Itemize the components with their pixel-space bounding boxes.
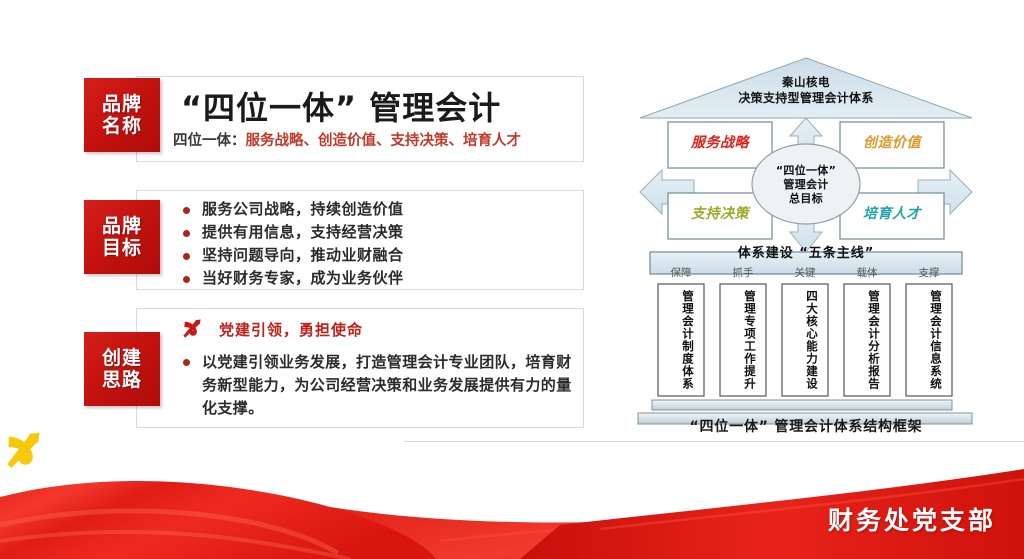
label-tag-brand-name: 品牌 名称 [84, 78, 160, 152]
brand-title: “四位一体” 管理会计 [181, 83, 501, 129]
footer-org-label: 财务处党支部 [828, 501, 996, 537]
framework-diagram: 秦山核电 决策支持型管理会计体系 服务战略 创造价值 支持决策 培育人才 “四位… [636, 56, 976, 446]
pillar-text-4: 管理会计分析报告 [854, 290, 880, 390]
label-tag-line-2: 目标 [102, 237, 142, 259]
list-item-label: 服务公司战略，持续创造价值 [202, 199, 404, 220]
label-tag-brand-goal: 品牌 目标 [84, 200, 160, 274]
label-tag-creation-approach: 创建 思路 [84, 332, 160, 406]
bullet-dot [183, 276, 190, 283]
pillar-text-3: 四大核心能力建设 [792, 290, 818, 390]
party-heading-row: 党建引领，勇担使命 [179, 317, 363, 341]
pillar-caption-5: 支撑 [901, 265, 957, 280]
quadrant-label-service-strategy: 服务战略 [672, 132, 768, 152]
label-tag-line-1: 品牌 [102, 215, 142, 237]
creation-approach-panel: 党建引领，勇担使命 以党建引领业务发展，打造管理会计专业团队，培育财务新型能力，… [136, 308, 584, 428]
brand-subtitle-value: 服务战略、创造价值、支持决策、培育人才 [246, 132, 522, 149]
bullet-dot [183, 230, 190, 237]
label-tag-line-1: 创建 [102, 347, 142, 369]
pillar-caption-4: 载体 [839, 265, 895, 280]
creation-approach-paragraph-row: 以党建引领业务发展，打造管理会计专业团队，培育财务新型能力，为公司经营决策和业务… [183, 351, 573, 420]
list-item: 提供有用信息，支持经营决策 [183, 222, 404, 243]
bullet-dot [183, 207, 190, 214]
center-label-line-3: 总目标 [750, 190, 862, 206]
pillar-caption-3: 关键 [777, 265, 833, 280]
quadrant-label-create-value: 创造价值 [844, 132, 940, 152]
list-item-label: 坚持问题导向，推动业财融合 [202, 245, 404, 266]
label-tag-line-2: 思路 [102, 369, 142, 391]
footer-ribbon-graphics [0, 429, 1024, 559]
brand-name-panel: “四位一体” 管理会计 四位一体：服务战略、创造价值、支持决策、培育人才 [136, 76, 584, 162]
party-heading-label: 党建引领，勇担使命 [219, 319, 363, 340]
foundation-bar-upper [652, 400, 952, 410]
list-item-label: 当好财务专家，成为业务伙伴 [202, 268, 404, 289]
brand-goal-list: 服务公司战略，持续创造价值 提供有用信息，支持经营决策 坚持问题导向，推动业财融… [183, 199, 404, 291]
pillar-caption-1: 保障 [653, 265, 709, 280]
list-item: 服务公司战略，持续创造价值 [183, 199, 404, 220]
quadrant-label-cultivate-talent: 培育人才 [844, 203, 940, 223]
list-item-label: 提供有用信息，支持经营决策 [202, 222, 404, 243]
pillar-caption-2: 抓手 [715, 265, 771, 280]
roof-title-line-1: 秦山核电 [636, 74, 976, 90]
main-lines-band-label: 体系建设 “五条主线” [636, 242, 976, 261]
brand-goal-panel: 服务公司战略，持续创造价值 提供有用信息，支持经营决策 坚持问题导向，推动业财融… [136, 190, 584, 290]
list-item: 坚持问题导向，推动业财融合 [183, 245, 404, 266]
label-tag-line-1: 品牌 [102, 93, 142, 115]
pillar-text-1: 管理会计制度体系 [668, 290, 694, 390]
slide-canvas: “四位一体” 管理会计 四位一体：服务战略、创造价值、支持决策、培育人才 品牌 … [0, 0, 1024, 559]
party-emblem-icon [0, 429, 46, 473]
left-content-column: “四位一体” 管理会计 四位一体：服务战略、创造价值、支持决策、培育人才 品牌 … [84, 72, 584, 440]
bullet-dot [183, 359, 190, 366]
pillar-text-5: 管理会计信息系统 [916, 290, 942, 390]
creation-approach-text: 以党建引领业务发展，打造管理会计专业团队，培育财务新型能力，为公司经营决策和业务… [202, 351, 573, 420]
pillar-text-2: 管理专项工作提升 [730, 290, 756, 390]
party-emblem-icon [179, 317, 205, 341]
bullet-dot [183, 253, 190, 260]
footer-ribbon: 财务处党支部 [0, 429, 1024, 559]
label-tag-line-2: 名称 [102, 115, 142, 137]
quadrant-label-support-decision: 支持决策 [672, 203, 768, 223]
list-item: 当好财务专家，成为业务伙伴 [183, 268, 404, 289]
brand-subtitle-key: 四位一体： [173, 132, 246, 149]
roof-title-line-2: 决策支持型管理会计体系 [636, 89, 976, 106]
brand-subtitle: 四位一体：服务战略、创造价值、支持决策、培育人才 [173, 129, 521, 150]
